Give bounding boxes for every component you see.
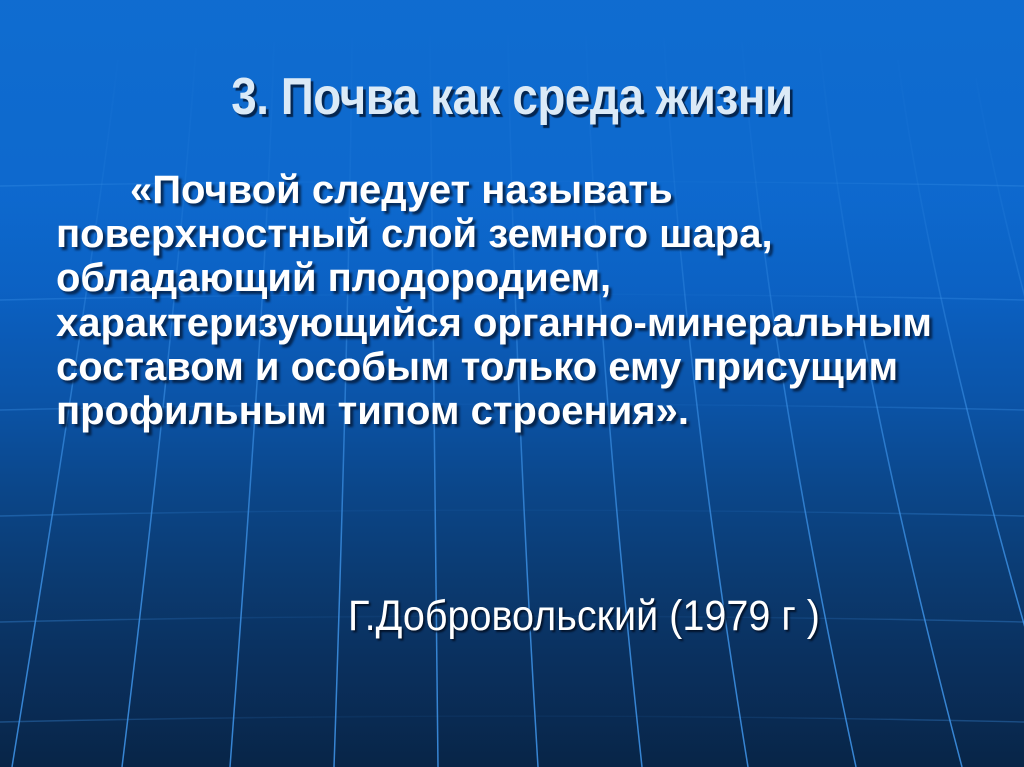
presentation-slide: 3. Почва как среда жизни «Почвой следует… [0, 0, 1024, 767]
quote-body-text: «Почвой следует называть поверхностный с… [56, 168, 956, 433]
quote-attribution: Г.Добровольский (1979 г ) [348, 592, 820, 641]
slide-title: 3. Почва как среда жизни [61, 67, 962, 127]
